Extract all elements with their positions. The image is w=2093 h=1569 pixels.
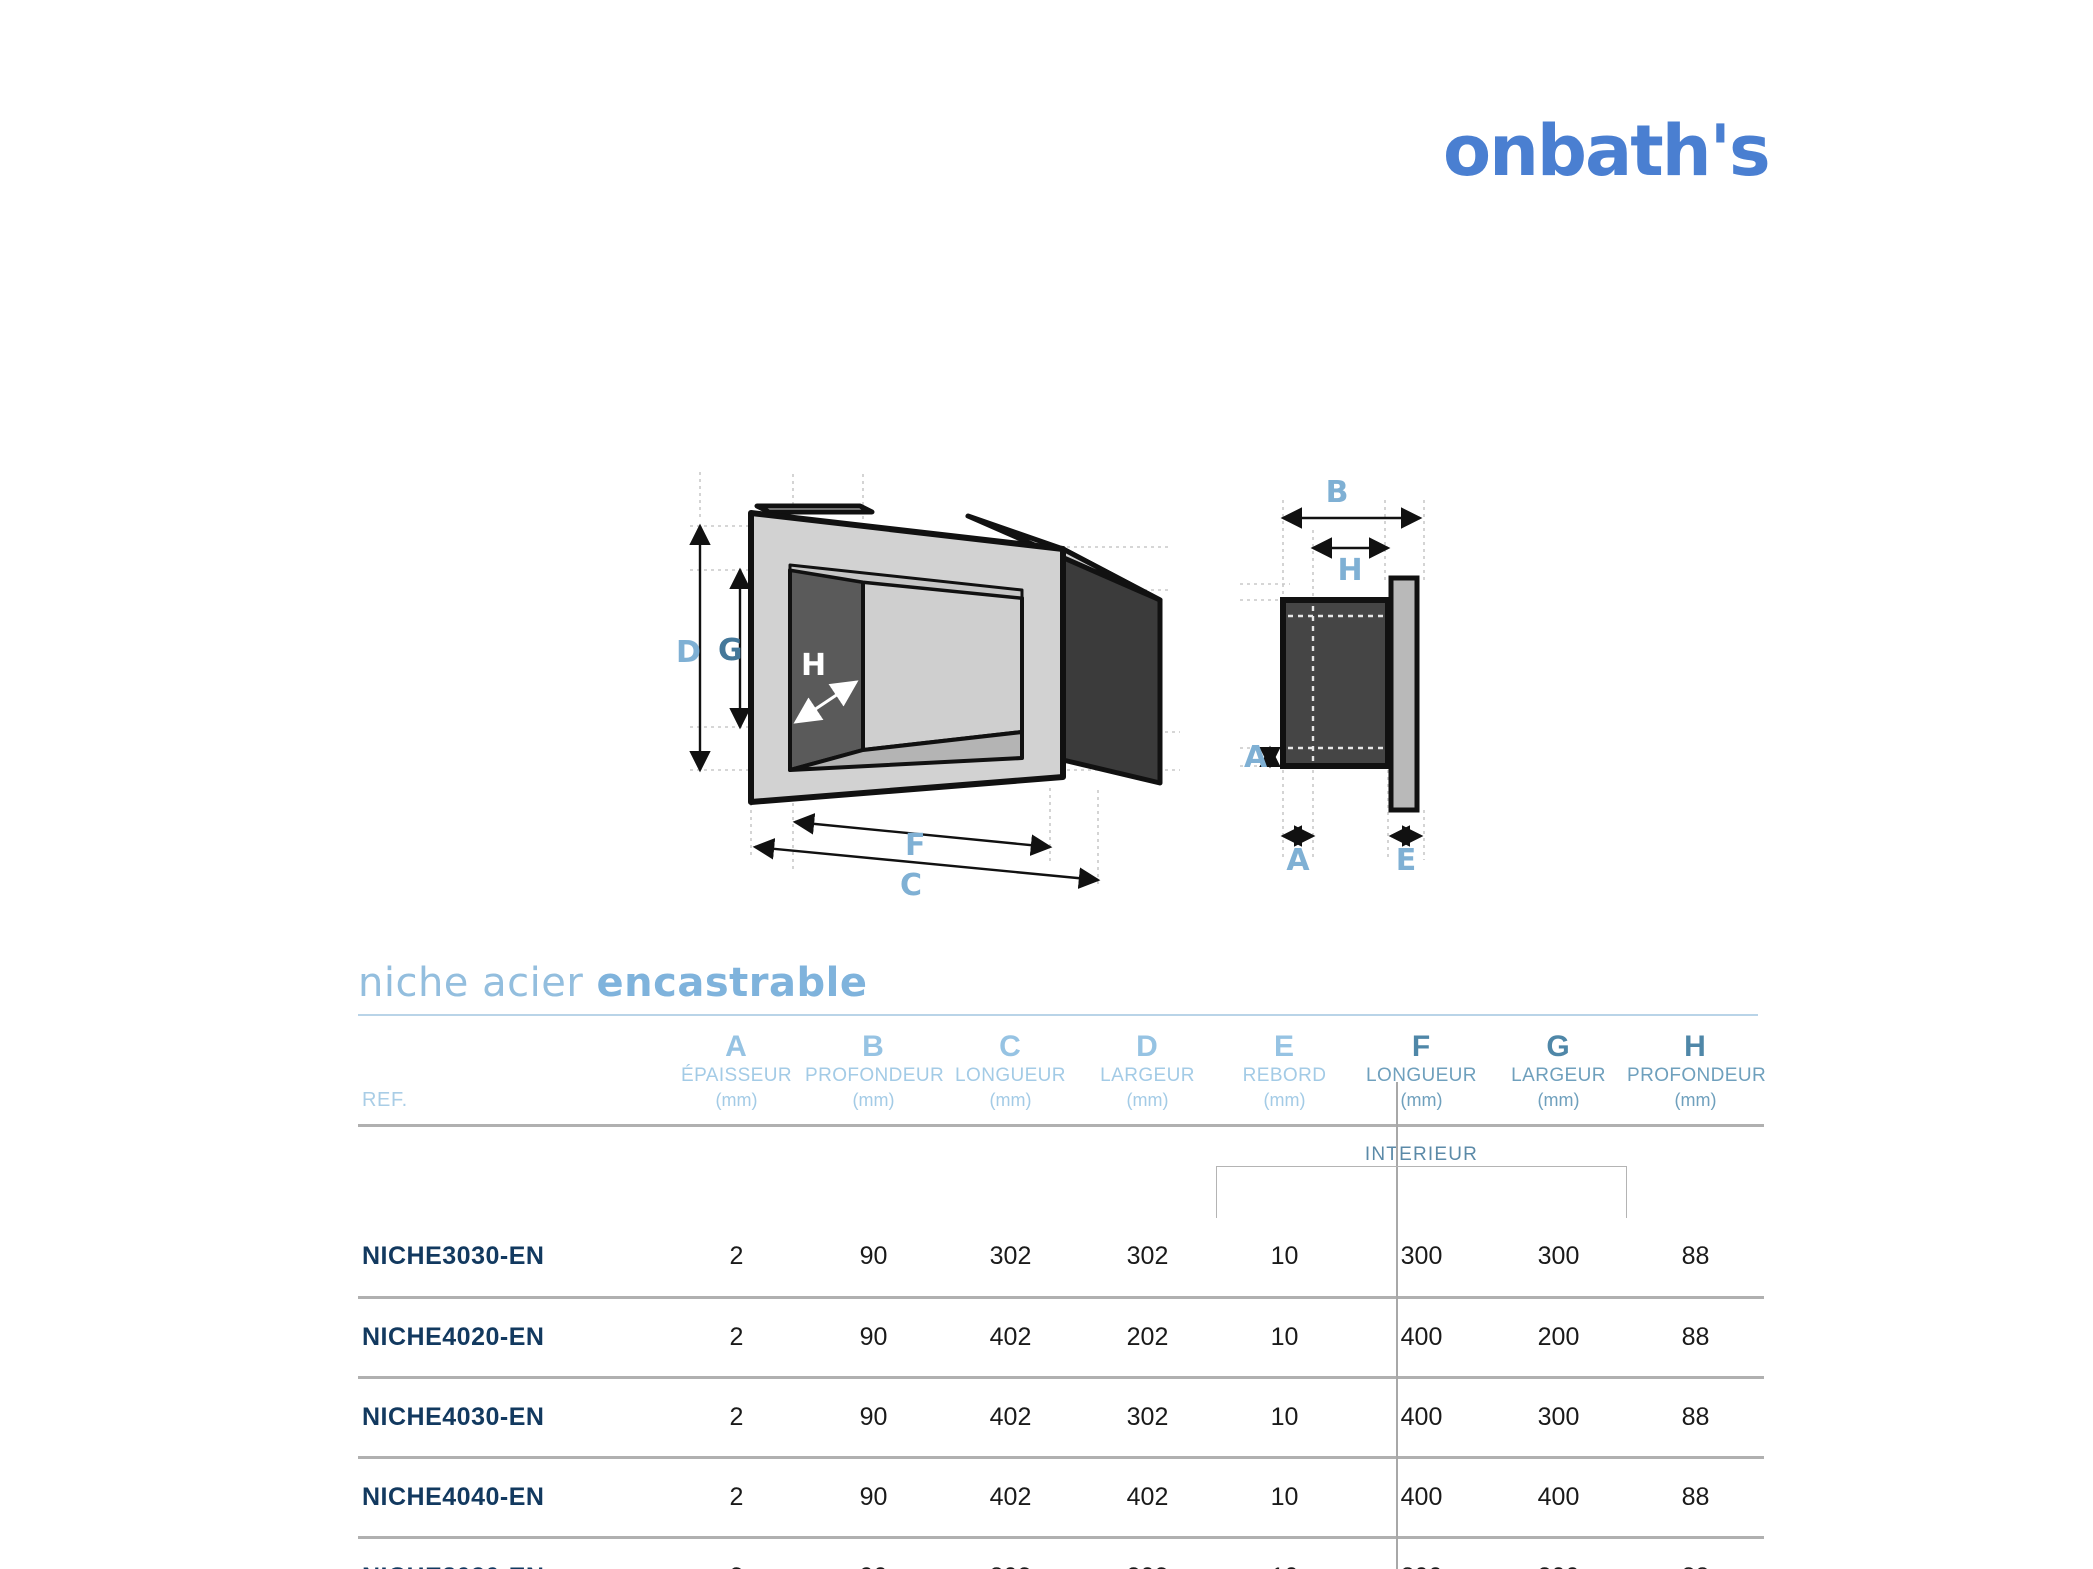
column-name-F: LONGUEUR (1353, 1064, 1490, 1088)
spec-table: INTERIEUR REF. A ÉPAISSEUR (mm) (358, 1030, 1764, 1569)
cell-G: 300 (1490, 1378, 1627, 1458)
cell-F: 400 (1353, 1378, 1490, 1458)
cell-F: 400 (1353, 1458, 1490, 1538)
column-letter-E: E (1216, 1030, 1353, 1064)
cell-G: 400 (1490, 1458, 1627, 1538)
cell-H: 88 (1627, 1538, 1764, 1569)
cell-A: 2 (668, 1458, 805, 1538)
spec-table-body: NICHE3030-EN 2 90 302 302 10 300 300 88 … (358, 1218, 1764, 1569)
cell-G: 300 (1490, 1218, 1627, 1298)
spec-table-wrapper: INTERIEUR REF. A ÉPAISSEUR (mm) (358, 1030, 1764, 1569)
column-header-H: H PROFONDEUR (mm) (1627, 1030, 1764, 1126)
dim-label-E: E (1396, 843, 1417, 878)
group-bracket-row (358, 1166, 1764, 1218)
title-divider (358, 1014, 1758, 1016)
column-unit-A: (mm) (668, 1088, 805, 1112)
column-letter-B: B (805, 1030, 942, 1064)
column-name-H: PROFONDEUR (1627, 1064, 1764, 1088)
column-name-G: LARGEUR (1490, 1064, 1627, 1088)
cell-C: 302 (942, 1218, 1079, 1298)
cell-B: 90 (805, 1298, 942, 1378)
drawing-svg: D G H F C (0, 470, 2093, 930)
column-name-C: LONGUEUR (942, 1064, 1079, 1088)
cell-C: 402 (942, 1458, 1079, 1538)
dim-label-F: F (905, 828, 926, 863)
cell-D: 302 (1079, 1378, 1216, 1458)
column-header-B: B PROFONDEUR (mm) (805, 1030, 942, 1126)
dim-line-C (755, 847, 1098, 880)
dim-label-D: D (676, 635, 701, 670)
table-row: NICHE3030-EN 2 90 302 302 10 300 300 88 (358, 1218, 1764, 1298)
cell-B: 90 (805, 1458, 942, 1538)
brand-logo-text: onbath's (1443, 108, 1773, 194)
cell-H: 88 (1627, 1378, 1764, 1458)
group-bracket-cell (1216, 1166, 1627, 1218)
group-label-interieur: INTERIEUR (1216, 1126, 1627, 1166)
table-row: NICHE4020-EN 2 90 402 202 10 400 200 88 (358, 1298, 1764, 1378)
cell-A: 2 (668, 1298, 805, 1378)
column-name-E: REBORD (1216, 1064, 1353, 1088)
page-title: niche acier encastrable (358, 960, 1758, 1006)
column-header-D: D LARGEUR (mm) (1079, 1030, 1216, 1126)
dim-label-H-side: H (1337, 553, 1362, 588)
column-unit-E: (mm) (1216, 1088, 1353, 1112)
cell-ref: NICHE4020-EN (358, 1298, 668, 1378)
cell-D: 402 (1079, 1458, 1216, 1538)
table-row: NICHE4030-EN 2 90 402 302 10 400 300 88 (358, 1378, 1764, 1458)
cell-D: 202 (1079, 1298, 1216, 1378)
cell-E: 10 (1216, 1538, 1353, 1569)
column-name-B: PROFONDEUR (805, 1064, 942, 1088)
cell-F: 800 (1353, 1538, 1490, 1569)
column-unit-F: (mm) (1353, 1088, 1490, 1112)
column-name-D: LARGEUR (1079, 1064, 1216, 1088)
dim-label-H-iso: H (801, 648, 826, 683)
column-unit-D: (mm) (1079, 1088, 1216, 1112)
cell-E: 10 (1216, 1298, 1353, 1378)
dim-label-C: C (900, 868, 922, 903)
column-unit-G: (mm) (1490, 1088, 1627, 1112)
column-header-G: G LARGEUR (mm) (1490, 1030, 1627, 1126)
dim-label-G: G (718, 633, 743, 668)
dim-label-A-bottom: A (1286, 843, 1310, 878)
column-letter-H: H (1627, 1030, 1764, 1064)
column-header-ref: REF. (358, 1030, 668, 1126)
column-name-A: ÉPAISSEUR (668, 1064, 805, 1088)
cell-H: 88 (1627, 1218, 1764, 1298)
interior-group-divider (1396, 1082, 1398, 1569)
cell-C: 802 (942, 1538, 1079, 1569)
cell-G: 300 (1490, 1538, 1627, 1569)
column-unit-H: (mm) (1627, 1088, 1764, 1112)
column-header-F: F LONGUEUR (mm) (1353, 1030, 1490, 1126)
cell-F: 400 (1353, 1298, 1490, 1378)
cell-ref: NICHE4030-EN (358, 1378, 668, 1458)
cell-B: 90 (805, 1538, 942, 1569)
page-title-light: niche acier (358, 960, 583, 1006)
cell-C: 402 (942, 1298, 1079, 1378)
column-header-C: C LONGUEUR (mm) (942, 1030, 1079, 1126)
dim-label-A-left: A (1244, 740, 1268, 775)
cell-B: 90 (805, 1218, 942, 1298)
column-unit-C: (mm) (942, 1088, 1079, 1112)
cell-ref: NICHE8030-EN (358, 1538, 668, 1569)
cell-ref: NICHE4040-EN (358, 1458, 668, 1538)
table-row: NICHE4040-EN 2 90 402 402 10 400 400 88 (358, 1458, 1764, 1538)
cell-B: 90 (805, 1378, 942, 1458)
column-letter-D: D (1079, 1030, 1216, 1064)
cell-D: 302 (1079, 1538, 1216, 1569)
cell-E: 10 (1216, 1458, 1353, 1538)
cell-G: 200 (1490, 1298, 1627, 1378)
cell-F: 300 (1353, 1218, 1490, 1298)
cell-A: 2 (668, 1218, 805, 1298)
group-title-row: INTERIEUR (358, 1126, 1764, 1166)
cell-D: 302 (1079, 1218, 1216, 1298)
cell-H: 88 (1627, 1298, 1764, 1378)
column-letter-A: A (668, 1030, 805, 1064)
cell-ref: NICHE3030-EN (358, 1218, 668, 1298)
column-unit-B: (mm) (805, 1088, 942, 1112)
cell-E: 10 (1216, 1378, 1353, 1458)
cell-C: 402 (942, 1378, 1079, 1458)
header-row: REF. A ÉPAISSEUR (mm) B PROFONDEUR (mm) … (358, 1030, 1764, 1126)
cell-A: 2 (668, 1378, 805, 1458)
column-letter-G: G (1490, 1030, 1627, 1064)
brand-logo: onbath's (1443, 108, 1773, 194)
section-title-block: niche acier encastrable (358, 960, 1758, 1016)
cell-H: 88 (1627, 1458, 1764, 1538)
dim-label-B: B (1326, 475, 1349, 510)
datasheet-page: onbath's (0, 0, 2093, 1569)
page-title-bold: encastrable (597, 960, 868, 1006)
iso-niche-drawing: D G H F C (676, 470, 1180, 903)
column-header-A: A ÉPAISSEUR (mm) (668, 1030, 805, 1126)
technical-drawing: D G H F C (0, 470, 2093, 930)
side-view-drawing: B H A A E (1240, 475, 1424, 878)
column-letter-C: C (942, 1030, 1079, 1064)
column-header-E: E REBORD (mm) (1216, 1030, 1353, 1126)
cell-E: 10 (1216, 1218, 1353, 1298)
cell-A: 2 (668, 1538, 805, 1569)
group-bracket (1216, 1166, 1627, 1218)
table-row: NICHE8030-EN 2 90 802 302 10 800 300 88 (358, 1538, 1764, 1569)
spec-table-head: REF. A ÉPAISSEUR (mm) B PROFONDEUR (mm) … (358, 1030, 1764, 1126)
column-letter-F: F (1353, 1030, 1490, 1064)
